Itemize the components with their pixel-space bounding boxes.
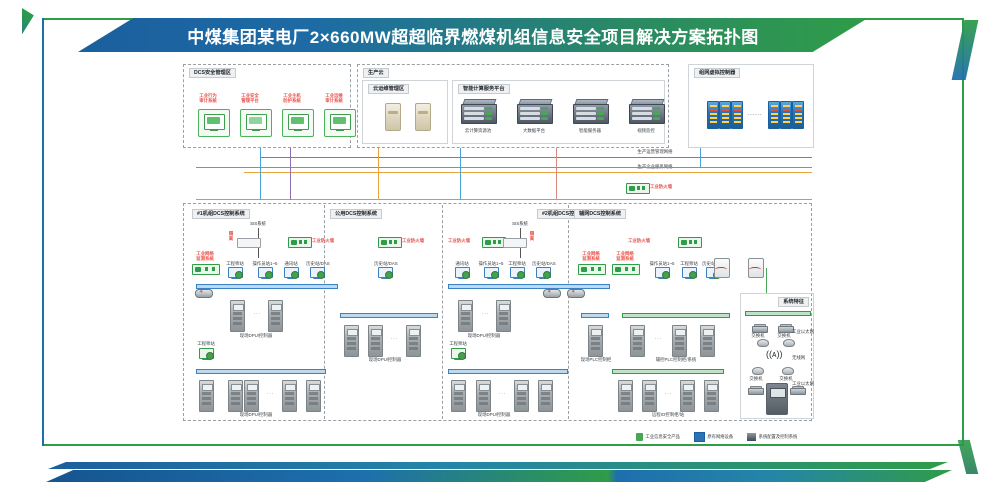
unit2-cab-top-ellipsis: · · · [477, 311, 493, 316]
maintenance-switch-label-3: 交换机 [744, 376, 768, 381]
maintenance-switch-1[interactable] [752, 324, 766, 332]
unit2-station-label-1: 操作员站1~5 [474, 261, 508, 266]
unit1-station-label-2: 通讯站 [278, 261, 304, 266]
legend-label-1: 原有网络设备 [707, 434, 733, 440]
compute-rack-1[interactable] [517, 99, 551, 123]
blue-switch-icon [694, 432, 705, 442]
aux-cab-single-label: 现场PLC控制柜 [572, 357, 620, 362]
unit2-cab-top-1[interactable] [496, 300, 511, 332]
unit1-station-label-0: 工程师站 [222, 261, 248, 266]
maintenance-switch-6[interactable] [790, 386, 804, 394]
dcs-app-label-0: 工业行为审计系统 [190, 93, 226, 103]
decor-bottom-bar-1 [48, 462, 948, 469]
zone-virtual-controller-title: 组网虚拟控制器 [694, 68, 740, 78]
unit1-station-1[interactable] [258, 267, 273, 279]
unit1-bus-upper [196, 284, 338, 289]
unit2-cab-bot-ellipsis: · · · [494, 391, 510, 396]
virtual-controller-l2[interactable] [719, 101, 731, 129]
virtual-controller-connector: ------ [746, 112, 764, 117]
unit2-station-label-2: 工程师站 [504, 261, 530, 266]
maintenance-antenna-1[interactable] [757, 339, 767, 346]
unit2-station-1[interactable] [484, 267, 499, 279]
zone-cloud-ops-title: 云运维管理区 [368, 84, 409, 94]
aux-io-label: 远程IO控制柜/站 [632, 412, 704, 417]
unit2-cab-top-label: 现场DPU/控制器 [456, 333, 512, 338]
aux-cab-single[interactable] [588, 325, 603, 357]
unit1-bus-lower [196, 369, 326, 374]
legend-item-2: 系统配置及控制系统 [747, 433, 797, 441]
maintenance-cabinet[interactable] [766, 383, 788, 415]
shield-monitor-icon[interactable] [282, 109, 314, 137]
common-cab-2[interactable] [406, 325, 421, 357]
aux-io-cab-0[interactable] [618, 380, 633, 412]
common-firewall-icon[interactable] [378, 237, 402, 248]
dcs-app-label-3: 工业运维审计系统 [316, 93, 352, 103]
maintenance-antenna-3[interactable] [752, 367, 762, 374]
unit1-station-label-1: 操作员站1~5 [248, 261, 282, 266]
unit1-cab-bot-2[interactable] [244, 380, 259, 412]
gray-cabinet-icon [747, 433, 756, 441]
firewall-mid-icon[interactable] [626, 183, 650, 194]
unit1-station-3[interactable] [310, 267, 325, 279]
aux-netmon-label-b: 工业网络监测系统 [608, 251, 642, 261]
maintenance-uplink [766, 268, 767, 293]
page-title: 中煤集团某电厂2×660MW超超临界燃煤机组信息安全项目解决方案拓扑图 [78, 18, 868, 52]
zone-common-title: 公用DCS控制系统 [330, 209, 382, 219]
aux-netmon-icon-b[interactable] [612, 264, 640, 275]
unit2-sis-label: SIS系统 [500, 221, 540, 226]
aux-plc-cab-2[interactable] [700, 325, 715, 357]
green-shield-icon [636, 433, 643, 441]
dcs-app-label-2: 工业主机防护系统 [274, 93, 310, 103]
virtual-controller-r3[interactable] [792, 101, 804, 129]
unit1-station-0[interactable] [228, 267, 243, 279]
bus-line-red [196, 199, 812, 200]
common-cab-1[interactable] [368, 325, 383, 357]
wifi-ap-icon[interactable]: ((ᴀ)) [766, 350, 782, 364]
aux-firewall-icon[interactable] [678, 237, 702, 248]
unit1-sis-label: SIS系统 [238, 221, 278, 226]
aux-firewall-unit-2[interactable] [747, 258, 763, 276]
aux-io-ellipsis: · · · [660, 391, 676, 396]
unit1-cab-bot-1[interactable] [228, 380, 243, 412]
firewall-mid-label: 工业防火墙 [650, 184, 690, 189]
bus-label-operations: 生产运营管理网络 [615, 149, 695, 154]
unit2-cab-bot-0[interactable] [451, 380, 466, 412]
drop-line-1 [260, 148, 261, 200]
drop-line-4 [460, 148, 461, 200]
legend-label-2: 系统配置及控制系统 [759, 434, 798, 440]
maintenance-bus [745, 311, 811, 316]
decor-corner-bottom-right [958, 440, 978, 474]
maintenance-antenna-4[interactable] [782, 367, 792, 374]
unit2-station-label-3: 历史站/DAS [528, 261, 560, 266]
aux-plc-cab-0[interactable] [630, 325, 645, 357]
compute-rack-0[interactable] [461, 99, 495, 123]
drop-line-2 [290, 148, 291, 200]
aux-station-label-0: 操作员站1~5 [645, 261, 679, 266]
aux-bus-single [581, 313, 609, 318]
unit1-station-2[interactable] [284, 267, 299, 279]
page-title-text: 中煤集团某电厂2×660MW超超临界燃煤机组信息安全项目解决方案拓扑图 [187, 23, 758, 48]
unit2-cab-bot-2[interactable] [514, 380, 529, 412]
unit1-sis-gateway-icon[interactable] [237, 238, 261, 248]
common-cab-ellipsis: · · · [386, 336, 402, 341]
aux-io-cab-2[interactable] [680, 380, 695, 412]
unit1-cab-top-1[interactable] [268, 300, 283, 332]
aux-station-1[interactable] [682, 267, 697, 279]
maintenance-antenna-2[interactable] [783, 339, 793, 346]
zone-dcs-security-title: DCS安全管理区 [189, 68, 236, 78]
unit1-netmon-label: 工业网络监测系统 [188, 251, 222, 261]
unit1-cab-bot-ellipsis: · · · [262, 391, 278, 396]
common-cab-0[interactable] [344, 325, 359, 357]
dcs-app-label-1: 工业安全管理平台 [232, 93, 268, 103]
unit2-eng-label: 工程师站 [445, 341, 471, 346]
unit2-eng-station[interactable] [451, 348, 466, 360]
maintenance-net-label-1: 工业以太网 [792, 329, 816, 334]
bus-line-blue-a [196, 167, 812, 168]
compute-rack-label-0: 云计算资源池 [455, 128, 501, 133]
unit2-gateway-tag: 隔离 [527, 232, 537, 242]
aux-station-0[interactable] [655, 267, 670, 279]
virtual-controller-l3[interactable] [731, 101, 743, 129]
common-station-0[interactable] [378, 267, 393, 279]
unit1-cab-bot-label: 现场DPU/控制器 [228, 412, 284, 417]
aux-firewall-unit-1[interactable] [713, 258, 729, 276]
unit1-cab-bot-3[interactable] [282, 380, 297, 412]
audit-monitor-icon[interactable] [324, 109, 356, 137]
common-firewall-label: 工业防火墙 [402, 238, 442, 243]
zone-production-cloud-title: 生产云 [363, 68, 389, 78]
zone-maintenance-title: 系统特征 [778, 297, 809, 307]
aux-plc-label: 辅控PLC控制柜/系统 [640, 357, 712, 362]
maintenance-switch-label-1: 交换机 [746, 333, 770, 338]
legend-label-0: 工业信息安全产品 [646, 434, 680, 440]
common-cab-label: 现场DPU/控制器 [357, 357, 413, 362]
zone-compute-platform-title: 智能计算服务平台 [458, 84, 510, 94]
drop-line-5 [556, 148, 557, 200]
maintenance-wifi-label: 无线网 [792, 355, 816, 360]
unit1-netmon-icon[interactable] [192, 264, 220, 275]
drop-line-6 [700, 148, 701, 167]
unit2-cab-bot-label: 现场DPU/控制器 [466, 412, 522, 417]
unit2-station-label-0: 通讯站 [449, 261, 475, 266]
virtual-controller-l1[interactable] [707, 101, 719, 129]
aux-plc-ellipsis: · · · [650, 336, 666, 341]
aux-bus-remote-io [612, 369, 724, 374]
unit2-cab-top-0[interactable] [458, 300, 473, 332]
aux-netmon-icon-a[interactable] [578, 264, 606, 275]
aux-io-cab-1[interactable] [642, 380, 657, 412]
maintenance-net-label-2: 工业以太网 [792, 381, 816, 386]
unit1-cab-bot-4[interactable] [306, 380, 321, 412]
topology-page: 中煤集团某电厂2×660MW超超临界燃煤机组信息安全项目解决方案拓扑图 DCS安… [0, 0, 1000, 500]
aux-io-cab-3[interactable] [704, 380, 719, 412]
aux-plc-cab-1[interactable] [672, 325, 687, 357]
tower-server-1[interactable] [385, 103, 401, 131]
compute-rack-2[interactable] [573, 99, 607, 123]
unit2-station-3[interactable] [536, 267, 551, 279]
unit1-gateway-tag: 隔离 [226, 232, 236, 242]
bus-line-enterprise [244, 172, 812, 173]
unit2-station-2[interactable] [510, 267, 525, 279]
aux-netmon-label-a: 工业网络监测系统 [574, 251, 608, 261]
tower-server-2[interactable] [415, 103, 431, 131]
zone-aux-title: 辅网DCS控制系统 [574, 209, 626, 219]
decor-bottom-bar-2 [46, 470, 952, 482]
unit1-cab-top-0[interactable] [230, 300, 245, 332]
frame-left-accent [42, 18, 44, 446]
common-station-label-0: 历史站/DAS [370, 261, 402, 266]
log-monitor-icon[interactable] [198, 109, 230, 137]
aux-bus-plc [622, 313, 730, 318]
drop-line-3 [378, 148, 379, 200]
bus-line-operations [260, 157, 812, 158]
chart-monitor-icon[interactable] [240, 109, 272, 137]
unit1-cab-top-label: 现场DPU/控制器 [228, 333, 284, 338]
unit2-bus-lower [448, 369, 568, 374]
zone-cloud-ops: 云运维管理区 [362, 80, 448, 144]
compute-rack-label-3: 视频监控 [623, 128, 669, 133]
unit1-eng-label: 工程师站 [193, 341, 219, 346]
unit2-sis-gateway-icon[interactable] [503, 238, 527, 248]
unit1-cab-bot-0[interactable] [199, 380, 214, 412]
virtual-controller-r2[interactable] [780, 101, 792, 129]
compute-rack-label-2: 智能服务器 [567, 128, 613, 133]
compute-rack-label-1: 大数据平台 [511, 128, 557, 133]
legend-item-0: 工业信息安全产品 [636, 433, 680, 441]
legend-item-1: 原有网络设备 [694, 432, 733, 442]
aux-firewall-label: 工业防火墙 [628, 238, 668, 243]
unit2-cab-bot-1[interactable] [476, 380, 491, 412]
legend: 工业信息安全产品 原有网络设备 系统配置及控制系统 [636, 432, 807, 442]
unit2-station-0[interactable] [455, 267, 470, 279]
unit1-cab-top-ellipsis: · · · [249, 311, 265, 316]
maintenance-switch-5[interactable] [748, 386, 762, 394]
unit1-firewall-icon[interactable] [288, 237, 312, 248]
virtual-controller-r1[interactable] [768, 101, 780, 129]
common-bus [340, 313, 438, 318]
unit1-eng-station[interactable] [199, 348, 214, 360]
maintenance-switch-2[interactable] [778, 324, 792, 332]
zone-unit1-title: #1机组DCS控制系统 [192, 209, 250, 219]
compute-rack-3[interactable] [629, 99, 663, 123]
unit2-cab-bot-3[interactable] [538, 380, 553, 412]
